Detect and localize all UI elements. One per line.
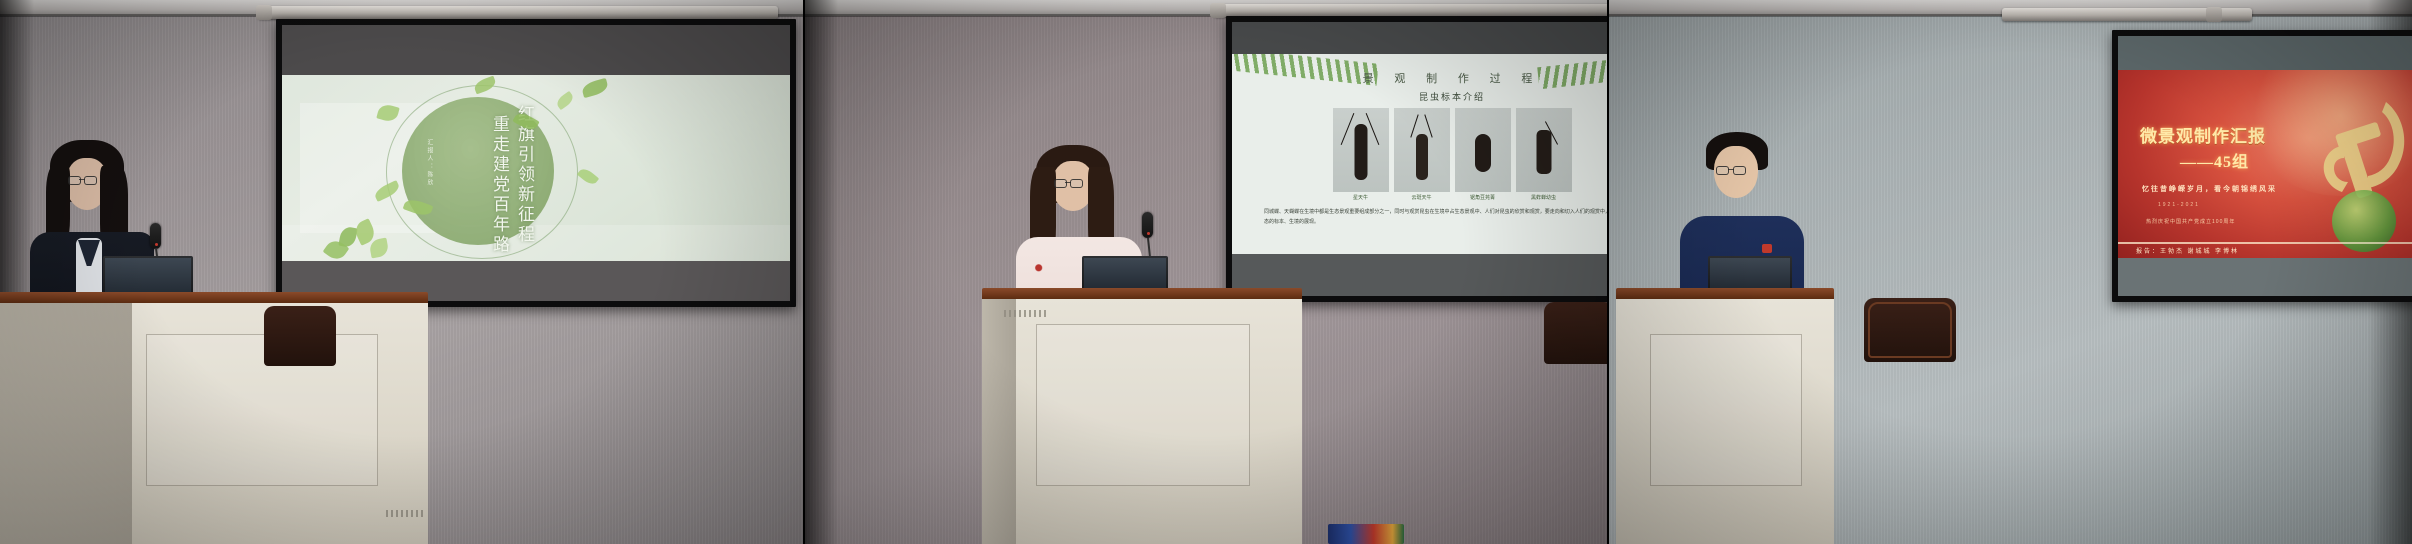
slide-3-tagline: 热烈庆祝中国共产党成立100周年 (2146, 218, 2235, 225)
podium-vent-1 (386, 510, 424, 517)
specimen-cell (1455, 108, 1511, 192)
panel-seam-2 (1607, 0, 1609, 544)
chest-logo-3 (1762, 244, 1772, 253)
podium-front-panel-3 (1650, 334, 1802, 486)
podium-panel-3 (1616, 288, 1834, 544)
specimen-cell (1516, 108, 1572, 192)
slide-2-specimen-captions: 星天牛 云斑天牛 锯角豆芫菁 黑蚱蝉幼虫 (1232, 194, 1608, 201)
screen-frame-3: 微景观制作汇报 ——45组 忆往昔峥嵘岁月，看今朝锦绣风采 1921-2021 … (2112, 30, 2412, 302)
specimen-caption: 云斑天牛 (1394, 194, 1450, 201)
photo-collage: 红旗引领新征程 重走建党百年路 汇报人：陈欣 (0, 0, 2412, 544)
chair-panel-1 (264, 306, 336, 544)
laptop-lid-3 (1708, 256, 1792, 292)
slide-2-body-text: 同城蝶、天蝴蝶在生境中都是生态景观重要组成部分之一，同时与观赏昆虫在生境中占生态… (1264, 208, 1608, 227)
specimen-cell (1333, 108, 1389, 192)
screen-roller-1 (258, 6, 778, 19)
slide-2-heading: 景 观 制 作 过 程 (1232, 70, 1608, 86)
slide-2-subheading: 昆虫标本介绍 (1232, 90, 1608, 103)
chair-back-1 (264, 306, 336, 366)
slide-3-subtitle: 忆往昔峥嵘岁月，看今朝锦绣风采 (2142, 184, 2277, 194)
laptop-display-3 (1710, 258, 1790, 290)
slide-panel-1: 红旗引领新征程 重走建党百年路 汇报人：陈欣 (282, 75, 790, 261)
screen-top-mask-2 (1232, 22, 1608, 54)
screen-roller-cap-2 (1210, 3, 1226, 18)
screen-top-mask-3 (2118, 36, 2412, 70)
glasses-3 (1716, 166, 1756, 175)
screen-surface-1: 红旗引领新征程 重走建党百年路 汇报人：陈欣 (282, 25, 790, 301)
screen-surface-3: 微景观制作汇报 ——45组 忆往昔峥嵘岁月，看今朝锦绣风采 1921-2021 … (2118, 36, 2412, 296)
chair-back-2 (1544, 302, 1608, 364)
projection-screen-3: 微景观制作汇报 ——45组 忆往昔峥嵘岁月，看今朝锦绣风采 1921-2021 … (2020, 8, 2412, 308)
slide-3-divider (2118, 242, 2412, 244)
chair-panel-3 (1864, 298, 1956, 544)
projection-screen-1: 红旗引领新征程 重走建党百年路 汇报人：陈欣 (258, 6, 804, 306)
podium-front-panel-2 (1036, 324, 1250, 486)
screen-bottom-mask-3 (2118, 258, 2412, 296)
screen-surface-2: 景 观 制 作 过 程 昆虫标本介绍 (1232, 22, 1608, 296)
laptop-display-2 (1084, 258, 1166, 290)
slide-3-group-line: ——45组 (2180, 148, 2249, 172)
glasses-2 (1054, 179, 1092, 188)
laptop-lid-2 (1082, 256, 1168, 292)
slide-1-byline: 汇报人：陈欣 (425, 139, 434, 187)
screen-roller-cap-1 (256, 5, 272, 20)
specimen-caption: 锯角豆芫菁 (1455, 194, 1511, 201)
chair-trim-3 (1868, 302, 1952, 358)
podium-side-1 (0, 303, 132, 544)
projection-screen-2: 景 观 制 作 过 程 昆虫标本介绍 (1222, 4, 1608, 304)
laptop-display-1 (105, 258, 191, 296)
panel-2: 景 观 制 作 过 程 昆虫标本介绍 (804, 0, 1608, 544)
slide-3-presenters: 报告：王勃杰 谢城城 李博林 (2136, 246, 2239, 255)
specimen-caption: 星天牛 (1333, 194, 1389, 201)
panel-1: 红旗引领新征程 重走建党百年路 汇报人：陈欣 (0, 0, 804, 544)
foreground-objects-2 (1328, 524, 1404, 544)
podium-panel-1 (0, 292, 428, 544)
mic-indicator-2 (1147, 232, 1150, 235)
slide-1-title-line-2: 重走建党百年路 (487, 115, 512, 255)
podium-front-panel-1 (146, 334, 378, 486)
slide-panel-2: 景 观 制 作 过 程 昆虫标本介绍 (1232, 54, 1608, 254)
screen-frame-1: 红旗引领新征程 重走建党百年路 汇报人：陈欣 (276, 19, 796, 307)
slide-3-title: 微景观制作汇报 (2140, 122, 2266, 147)
podium-vent-2 (1004, 310, 1048, 317)
specimen-caption: 黑蚱蝉幼虫 (1516, 194, 1572, 201)
screen-frame-2: 景 观 制 作 过 程 昆虫标本介绍 (1226, 16, 1608, 302)
screen-roller-cap-3 (2206, 7, 2222, 22)
panel-3: 微景观制作汇报 ——45组 忆往昔峥嵘岁月，看今朝锦绣风采 1921-2021 … (1608, 0, 2412, 544)
mic-indicator-1 (155, 243, 158, 246)
slide-2-specimen-grid (1232, 108, 1608, 192)
glasses-1 (68, 176, 106, 185)
screen-top-mask-1 (282, 25, 790, 75)
left-shadow-panel-2 (804, 0, 838, 544)
panel-seam-1 (803, 0, 805, 544)
podium-side-2 (982, 299, 1016, 544)
podium-panel-2 (982, 288, 1302, 544)
chair-panel-2 (1544, 302, 1608, 542)
slide-panel-3: 微景观制作汇报 ——45组 忆往昔峥嵘岁月，看今朝锦绣风采 1921-2021 … (2118, 70, 2412, 270)
slide-3-years: 1921-2021 (2158, 202, 2200, 208)
specimen-cell (1394, 108, 1450, 192)
